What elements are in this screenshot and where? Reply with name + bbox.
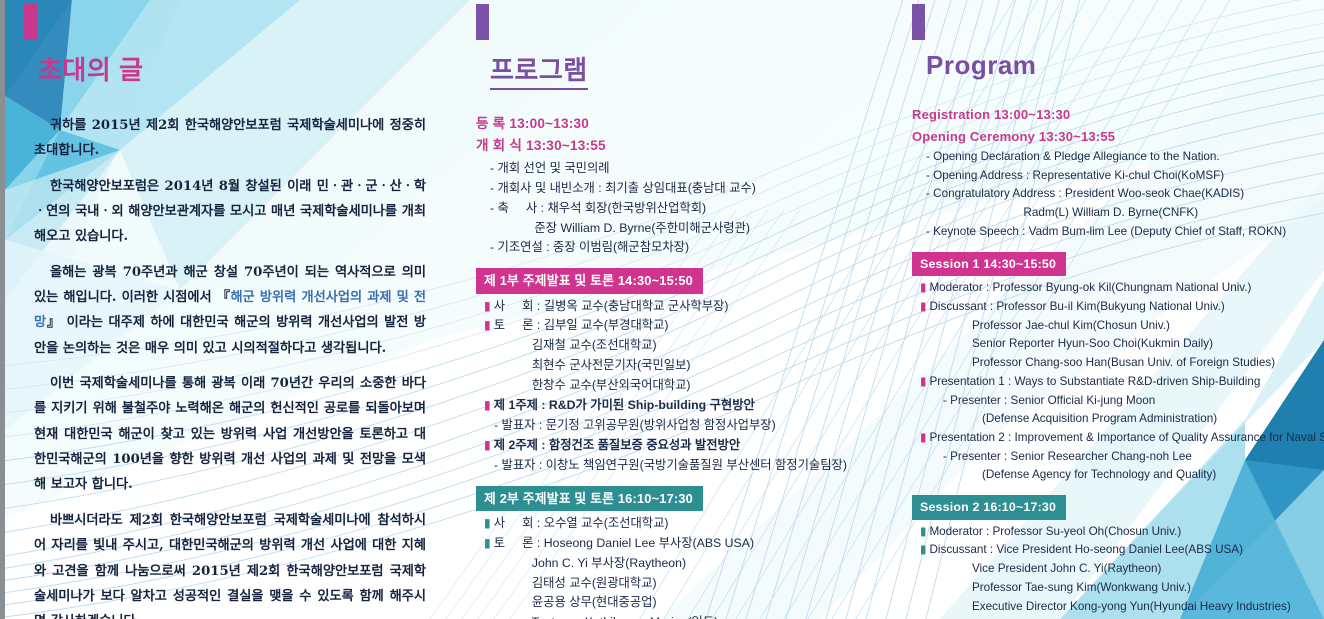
kr-opening-row: 개 회 식 13:30~13:55: [476, 136, 901, 156]
en-registration-label: Registration: [912, 107, 990, 122]
en-presentation1-affiliation: (Defense Acquisition Program Administrat…: [982, 412, 1217, 425]
en-session1-disc-label: Discussant :: [929, 300, 996, 313]
en-session1-discussant: Professor Jae-chul Kim(Chosun Univ.): [920, 317, 1317, 336]
kr-part2-header: 제 2부 주제발표 및 토론 16:10~17:30: [476, 486, 703, 511]
en-session2-discussant-first: ▮Discussant : Vice President Ho-seong Da…: [920, 541, 1317, 560]
en-session2-disc-label: Discussant :: [929, 543, 996, 556]
en-opening-label: Opening Ceremony: [912, 129, 1035, 144]
en-session1-discussant-first: ▮Discussant : Professor Bu-il Kim(Bukyun…: [920, 298, 1317, 317]
en-registration-time: 13:00~13:30: [994, 107, 1070, 122]
en-session1-disc-name: Professor Chang-soo Han(Busan Univ. of F…: [972, 356, 1275, 369]
kr-part2-chair: ▮사 회 : 오수열 교수(조선대학교): [484, 514, 901, 534]
bullet-icon: ▮: [484, 318, 491, 332]
kr-part1-disc-label: 토 론 :: [494, 318, 544, 332]
en-session2-discussant: Professor Tae-sung Kim(Wonkwang Univ.): [920, 579, 1317, 598]
bullet-icon: ▮: [484, 516, 491, 530]
kr-part2-discussant-first: ▮토 론 : Hoseong Daniel Lee 부사장(ABS USA): [484, 534, 901, 554]
kr-part2-disc-name: Tontangs Kothilngam Maring(인도): [532, 615, 719, 619]
kr-part1-chair: ▮사 회 : 길병옥 교수(충남대학교 군사학부장): [484, 297, 901, 317]
kr-opening-item: - 개회 선언 및 국민의례: [490, 159, 901, 179]
invitation-paragraph: 한국해양안보포럼은 2014년 8월 창설된 이래 민ㆍ관ㆍ군ㆍ산ㆍ학ㆍ연의 국…: [34, 174, 426, 250]
kr-part2-disc-name: 윤공용 상무(현대중공업): [532, 595, 657, 609]
bullet-icon: ▮: [920, 431, 926, 444]
en-opening-item: - Opening Address : Representative Ki-ch…: [926, 167, 1317, 186]
kr-part2-disc-name: John C. Yi 부사장(Raytheon): [532, 556, 686, 570]
en-presentation2-title: Presentation 2 : Improvement & Importanc…: [929, 431, 1324, 444]
kr-part2-chair-name: 오수열 교수(조선대학교): [544, 516, 669, 530]
en-session1-affiliation: (Defense Agency for Technology and Quali…: [930, 466, 1317, 485]
kr-registration-row: 등 록 13:00~13:30: [476, 114, 901, 134]
kr-part2-chair-label: 사 회 :: [494, 516, 544, 530]
en-registration-row: Registration 13:00~13:30: [912, 105, 1317, 125]
bullet-icon: ▮: [920, 300, 926, 313]
kr-part1-topic-title: ▮제 2주제 : 함정건조 품질보증 중요성과 발전방안: [484, 436, 901, 456]
invitation-title: 초대의 글: [38, 50, 444, 87]
left-edge-strip: [0, 0, 5, 619]
en-session1-affiliation: (Defense Acquisition Program Administrat…: [930, 410, 1317, 429]
invitation-paragraph: 이번 국제학술세미나를 통해 광복 이래 70년간 우리의 소중한 바다를 지키…: [34, 371, 426, 498]
en-opening-row: Opening Ceremony 13:30~13:55: [912, 127, 1317, 147]
en-session1-presenter: - Presenter : Senior Official Ki-jung Mo…: [930, 392, 1317, 411]
kr-part1-chair-name: 길병옥 교수(충남대학교 군사학부장): [544, 299, 729, 313]
en-session2-discussant: Executive Director Kong-yong Yun(Hyundai…: [920, 598, 1317, 617]
en-session1-discussant: Professor Chang-soo Han(Busan Univ. of F…: [920, 354, 1317, 373]
kr-part2-discussant: John C. Yi 부사장(Raytheon): [484, 554, 901, 574]
kr-opening-item: - 개회사 및 내빈소개 : 최기출 상임대표(충남대 교수): [490, 179, 901, 199]
kr-topic1-title: 제 1주제 : R&D가 가미된 Ship-building 구현방안: [494, 398, 755, 412]
bullet-icon: ▮: [920, 281, 926, 294]
bullet-icon: ▮: [484, 438, 491, 452]
invitation-paragraph-highlighted: 올해는 광복 70주년과 해군 창설 70주년이 되는 역사적으로 의미 있는 …: [34, 260, 426, 361]
kr-registration-time: 13:00~13:30: [509, 116, 589, 131]
en-session2-disc-name: Vice President Ho-seong Daniel Lee(ABS U…: [996, 543, 1243, 556]
kr-opening-item: - 축 사 : 채우석 회장(한국방위산업학회): [490, 199, 901, 219]
en-session1-header: Session 1 14:30~15:50: [912, 252, 1066, 277]
bullet-icon: ▮: [484, 536, 491, 550]
invitation-para3-post: 』 이라는 대주제 하에 대한민국 해군의 방위력 개선사업의 발전 방안을 논…: [34, 315, 426, 355]
en-session1-discussant: Senior Reporter Hyun-Soo Choi(Kukmin Dai…: [920, 335, 1317, 354]
kr-part1-disc-name: 김재철 교수(조선대학교): [532, 338, 657, 352]
en-session2-disc-name: Professor Tae-sung Kim(Wonkwang Univ.): [972, 581, 1191, 594]
invitation-paragraph: 바쁘시더라도 제2회 한국해양안보포럼 국제학술세미나에 참석하시어 자리를 빛…: [34, 508, 426, 619]
kr-part1-discussant: 최현수 군사전문기자(국민일보): [484, 356, 901, 376]
invitation-paragraph: 귀하를 2015년 제2회 한국해양안보포럼 국제학술세미나에 정중히 초대합니…: [34, 113, 426, 164]
program-english-column: Program Registration 13:00~13:30 Opening…: [912, 0, 1317, 619]
program-en-body: Registration 13:00~13:30 Opening Ceremon…: [912, 105, 1317, 619]
kr-opening-label: 개 회 식: [476, 138, 522, 153]
kr-part1-discussant: 김재철 교수(조선대학교): [484, 336, 901, 356]
kr-part1-disc-name: 한창수 교수(부산외국어대학교): [532, 378, 691, 392]
en-session2-discussant: Vice President John C. Yi(Raytheon): [920, 560, 1317, 579]
program-korean-column: 프로그램 등 록 13:00~13:30 개 회 식 13:30~13:55 -…: [476, 0, 901, 619]
kr-part1-topic-title: ▮제 1주제 : R&D가 가미된 Ship-building 구현방안: [484, 396, 901, 416]
en-session1-disc-name: Senior Reporter Hyun-Soo Choi(Kukmin Dai…: [972, 337, 1213, 350]
kr-part1-topic-presenter: - 발표자 : 문기정 고위공무원(방위사업청 함정사업부장): [494, 416, 901, 436]
en-opening-time: 13:30~13:55: [1039, 129, 1115, 144]
en-session1-disc-name: Professor Jae-chul Kim(Chosun Univ.): [972, 319, 1170, 332]
en-session1-moderator: ▮Moderator : Professor Byung-ok Kil(Chun…: [920, 279, 1317, 298]
program-en-title: Program: [926, 50, 1317, 81]
en-session1-presenter: - Presenter : Senior Researcher Chang-no…: [930, 448, 1317, 467]
kr-part1-chair-label: 사 회 :: [494, 299, 544, 313]
bullet-icon: ▮: [484, 299, 491, 313]
kr-part1-discussant-first: ▮토 론 : 김부일 교수(부경대학교): [484, 316, 901, 336]
program-en-bar-mark: [912, 4, 925, 40]
kr-opening-item: - 기조연설 : 중장 이범림(해군참모차장): [490, 238, 901, 258]
kr-registration-label: 등 록: [476, 116, 505, 131]
en-opening-item: - Opening Declaration & Pledge Allegianc…: [926, 148, 1317, 167]
kr-topic2-title: 제 2주제 : 함정건조 품질보증 중요성과 발전방안: [494, 438, 740, 452]
en-session2-disc-name: Executive Director Kong-yong Yun(Hyundai…: [972, 600, 1291, 613]
kr-part2-disc-label: 토 론 :: [494, 536, 544, 550]
en-presentation1-title: Presentation 1 : Ways to Substantiate R&…: [929, 375, 1260, 388]
en-session1-presentation-title: ▮Presentation 2 : Improvement & Importan…: [920, 429, 1317, 448]
en-session2-disc-name: Vice President John C. Yi(Raytheon): [972, 562, 1161, 575]
invitation-body: 귀하를 2015년 제2회 한국해양안보포럼 국제학술세미나에 정중히 초대합니…: [34, 113, 426, 619]
en-presentation1-presenter: - Presenter : Senior Official Ki-jung Mo…: [943, 394, 1155, 407]
program-kr-title: 프로그램: [490, 50, 588, 90]
en-session1-presentation-title: ▮Presentation 1 : Ways to Substantiate R…: [920, 373, 1317, 392]
invitation-bar-mark: [24, 4, 37, 40]
brochure-page: 초대의 글 귀하를 2015년 제2회 한국해양안보포럼 국제학술세미나에 정중…: [0, 0, 1324, 619]
program-kr-bar-mark: [476, 4, 489, 40]
en-presentation2-presenter: - Presenter : Senior Researcher Chang-no…: [943, 450, 1192, 463]
en-session1-moderator-text: Moderator : Professor Byung-ok Kil(Chung…: [929, 281, 1251, 294]
bullet-icon: ▮: [920, 525, 926, 538]
en-opening-item: - Keynote Speech : Vadm Bum-lim Lee (Dep…: [926, 223, 1317, 242]
bullet-icon: ▮: [920, 543, 926, 556]
en-presentation2-affiliation: (Defense Agency for Technology and Quali…: [982, 468, 1216, 481]
en-session2-moderator: ▮Moderator : Professor Su-yeol Oh(Chosun…: [920, 523, 1317, 542]
kr-part1-disc-name: 최현수 군사전문기자(국민일보): [532, 358, 691, 372]
kr-part2-disc-name: Hoseong Daniel Lee 부사장(ABS USA): [544, 536, 754, 550]
kr-part1-discussant: 한창수 교수(부산외국어대학교): [484, 376, 901, 396]
en-session2-header: Session 2 16:10~17:30: [912, 495, 1066, 520]
kr-part2-disc-name: 김태성 교수(원광대학교): [532, 576, 657, 590]
kr-opening-time: 13:30~13:55: [526, 138, 606, 153]
kr-part2-discussant: Tontangs Kothilngam Maring(인도): [484, 613, 901, 619]
bullet-icon: ▮: [484, 398, 491, 412]
invitation-column: 초대의 글 귀하를 2015년 제2회 한국해양안보포럼 국제학술세미나에 정중…: [24, 0, 444, 619]
kr-opening-item: 준장 William D. Byrne(주한미해군사령관): [490, 219, 901, 239]
bullet-icon: ▮: [920, 375, 926, 388]
en-opening-item: Radm(L) William D. Byrne(CNFK): [926, 204, 1317, 223]
kr-part2-discussant: 윤공용 상무(현대중공업): [484, 593, 901, 613]
en-session1-disc-name: Professor Bu-il Kim(Bukyung National Uni…: [996, 300, 1224, 313]
en-session2-moderator-text: Moderator : Professor Su-yeol Oh(Chosun …: [929, 525, 1181, 538]
kr-part1-header: 제 1부 주제발표 및 토론 14:30~15:50: [476, 268, 703, 293]
en-opening-item: - Congratulatory Address : President Woo…: [926, 185, 1317, 204]
kr-part1-topic-presenter: - 발표자 : 이창노 책임연구원(국방기술품질원 부산센터 함정기술팀장): [494, 456, 901, 476]
program-kr-body: 등 록 13:00~13:30 개 회 식 13:30~13:55 - 개회 선…: [476, 114, 901, 619]
kr-part2-discussant: 김태성 교수(원광대학교): [484, 574, 901, 594]
kr-part1-disc-name: 김부일 교수(부경대학교): [544, 318, 669, 332]
